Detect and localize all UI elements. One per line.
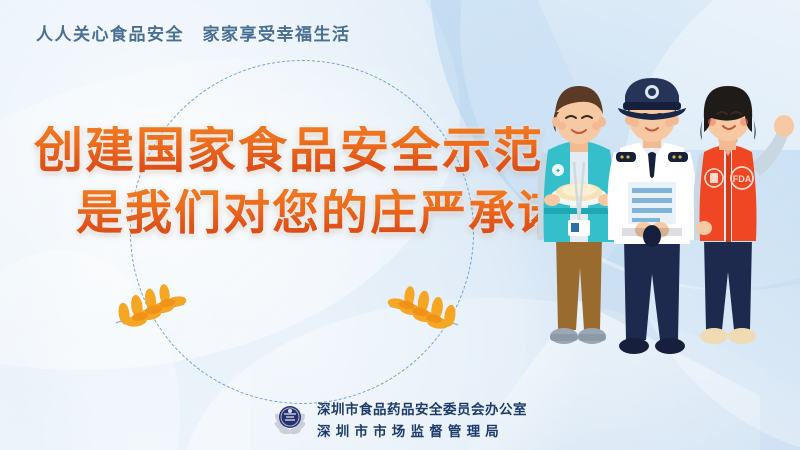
figure-volunteer-orange: FDA: [694, 86, 794, 344]
headline-line1: 创建国家食品安全示范城市: [34, 126, 545, 177]
figure-officer-uniform: [608, 78, 697, 354]
wheat-stalk-icon: [108, 276, 194, 357]
poster-canvas: 人人关心食品安全 家家享受幸福生活 创建国家食品安全示范城市 创建国家食品安全示…: [0, 0, 800, 450]
government-emblem-icon: [273, 402, 307, 436]
wheat-stalk-icon: [380, 278, 466, 359]
headline-block: 创建国家食品安全示范城市 创建国家食品安全示范城市 是我们对您的庄严承诺 是我们…: [0, 126, 545, 238]
svg-text:✦: ✦: [555, 167, 561, 175]
footer-line2: 深圳市市场监督管理局: [317, 420, 527, 440]
svg-text:FDA: FDA: [733, 174, 752, 184]
three-officials-illustration: ✦: [528, 78, 800, 378]
footer-line1: 深圳市食品药品安全委员会办公室: [317, 398, 527, 418]
headline-line2: 是我们对您的庄严承诺: [76, 189, 545, 238]
footer-block: 深圳市食品药品安全委员会办公室 深圳市市场监督管理局: [0, 398, 800, 440]
footer-text-group: 深圳市食品药品安全委员会办公室 深圳市市场监督管理局: [317, 398, 527, 440]
slogan-text: 人人关心食品安全 家家享受幸福生活: [36, 20, 351, 45]
